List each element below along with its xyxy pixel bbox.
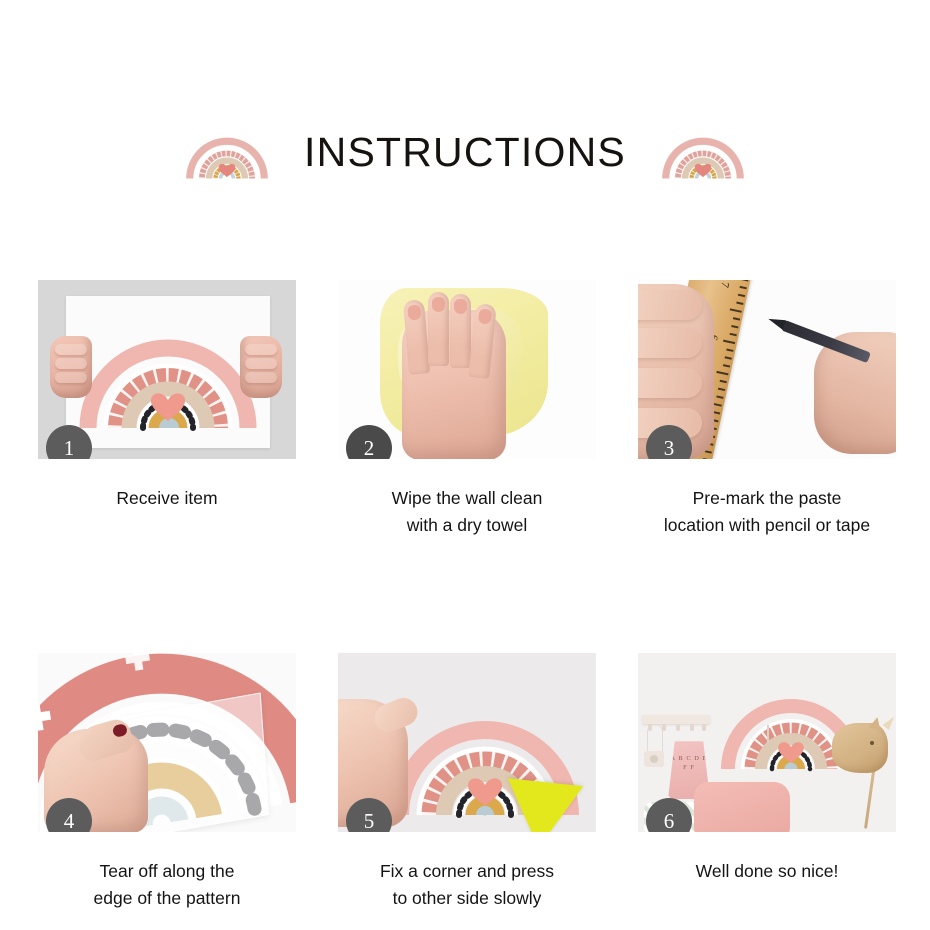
step-caption-1: Receive item	[38, 485, 296, 512]
ruler-number: 7	[718, 281, 731, 289]
camera-strap	[647, 724, 663, 753]
step-image-6: A B C D E F F 6	[638, 653, 896, 832]
step-image-5: 5	[338, 653, 596, 832]
wooden-unicorn-head	[832, 723, 888, 773]
step-caption-2: Wipe the wall clean with a dry towel	[338, 485, 596, 539]
step-caption-3: Pre-mark the paste location with pencil …	[638, 485, 896, 539]
left-hand	[50, 336, 92, 398]
caption-line-1: Tear off along the	[100, 861, 235, 881]
rainbow-icon	[660, 121, 746, 183]
step-image-2: 2	[338, 280, 596, 459]
step-image-1: 1	[38, 280, 296, 459]
caption-line-1: Receive item	[116, 488, 217, 508]
step-card-6: A B C D E F F 6 Well done so nice!	[638, 653, 896, 912]
step-card-3: 7 6 5 4 3 Pre-mark the paste location wi…	[638, 280, 896, 539]
rainbow-icon	[184, 121, 270, 183]
pink-cushion	[694, 782, 790, 832]
caption-line-2: edge of the pattern	[38, 885, 296, 912]
toy-camera	[644, 751, 664, 767]
nail	[112, 723, 129, 738]
wiping-hand	[402, 310, 506, 459]
instructions-page: INSTRUCTIONS	[0, 0, 930, 930]
squeegee-tool	[501, 778, 583, 832]
step-image-3: 7 6 5 4 3	[638, 280, 896, 459]
page-header: INSTRUCTIONS	[0, 112, 930, 192]
caption-line-1: Well done so nice!	[696, 861, 839, 881]
bag-letters: A B C D E F F	[668, 755, 710, 773]
right-hand	[240, 336, 282, 398]
step-caption-5: Fix a corner and press to other side slo…	[338, 858, 596, 912]
caption-line-2: with a dry towel	[338, 512, 596, 539]
caption-line-2: location with pencil or tape	[638, 512, 896, 539]
caption-line-2: to other side slowly	[338, 885, 596, 912]
page-title: INSTRUCTIONS	[304, 132, 626, 173]
bag-strap	[767, 725, 769, 743]
steps-grid: 1 Receive item 2 Wipe the wal	[38, 280, 896, 913]
step-card-5: 5 Fix a corner and press to other side s…	[338, 653, 596, 912]
caption-line-1: Pre-mark the paste	[693, 488, 842, 508]
step-card-1: 1 Receive item	[38, 280, 296, 539]
peg-rail	[642, 715, 710, 724]
step-card-2: 2 Wipe the wall clean with a dry towel	[338, 280, 596, 539]
step-image-4: 4	[38, 653, 296, 832]
caption-line-1: Fix a corner and press	[380, 861, 554, 881]
step-caption-4: Tear off along the edge of the pattern	[38, 858, 296, 912]
caption-line-1: Wipe the wall clean	[392, 488, 543, 508]
step-caption-6: Well done so nice!	[638, 858, 896, 885]
step-card-4: 4 Tear off along the edge of the pattern	[38, 653, 296, 912]
